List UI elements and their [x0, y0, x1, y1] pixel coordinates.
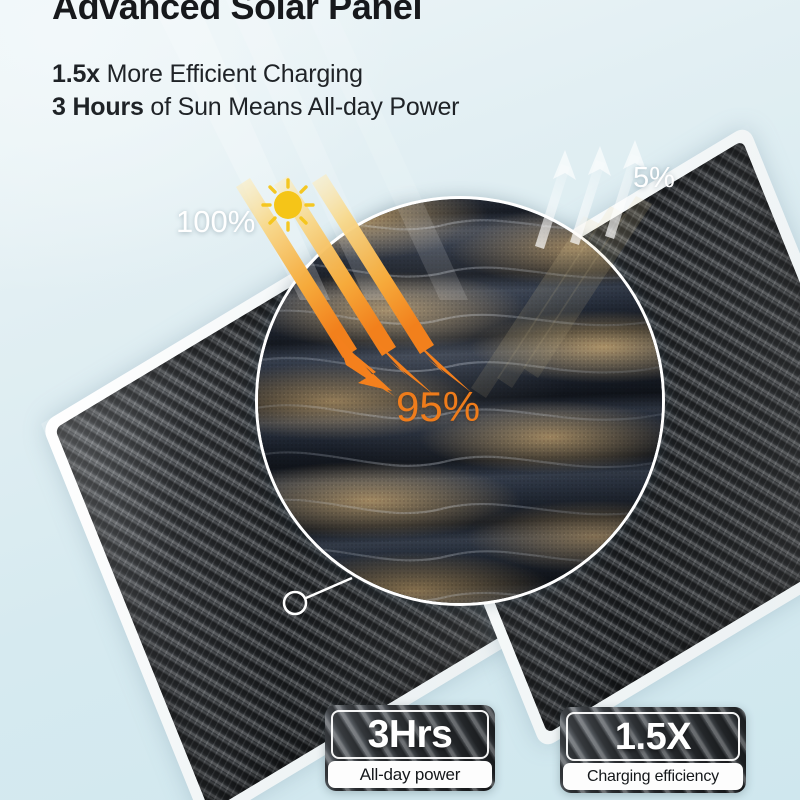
reflected-percent-label: 5% [633, 162, 675, 195]
badge-value: 3Hrs [368, 715, 453, 754]
badge-value-box: 1.5X [566, 712, 740, 761]
badge-label: Charging efficiency [587, 768, 719, 786]
subtitle-hours: 3 Hours of Sun Means All-day Power [52, 93, 459, 122]
page-title: Advanced Solar Panel [52, 0, 422, 28]
subtitle-2-bold: 3 Hours [52, 93, 144, 121]
absorbed-percent-label: 95% [396, 383, 480, 431]
badge-label-bar: Charging efficiency [563, 763, 743, 790]
badge-charging-efficiency: 1.5X Charging efficiency [560, 707, 746, 793]
subtitle-2-rest: of Sun Means All-day Power [144, 93, 460, 121]
badge-value: 1.5X [615, 718, 691, 756]
product-feature-graphic: 100% 5% 95% Advanced Solar Panel 1.5x Mo… [0, 0, 800, 800]
subtitle-efficiency: 1.5x More Efficient Charging [52, 60, 363, 89]
badge-label-bar: All-day power [328, 761, 492, 788]
subtitle-1-rest: More Efficient Charging [100, 60, 363, 88]
subtitle-1-bold: 1.5x [52, 60, 100, 88]
incoming-percent-label: 100% [176, 204, 255, 240]
badge-label: All-day power [360, 765, 460, 785]
badge-value-box: 3Hrs [331, 710, 489, 759]
badge-all-day-power: 3Hrs All-day power [325, 705, 495, 791]
